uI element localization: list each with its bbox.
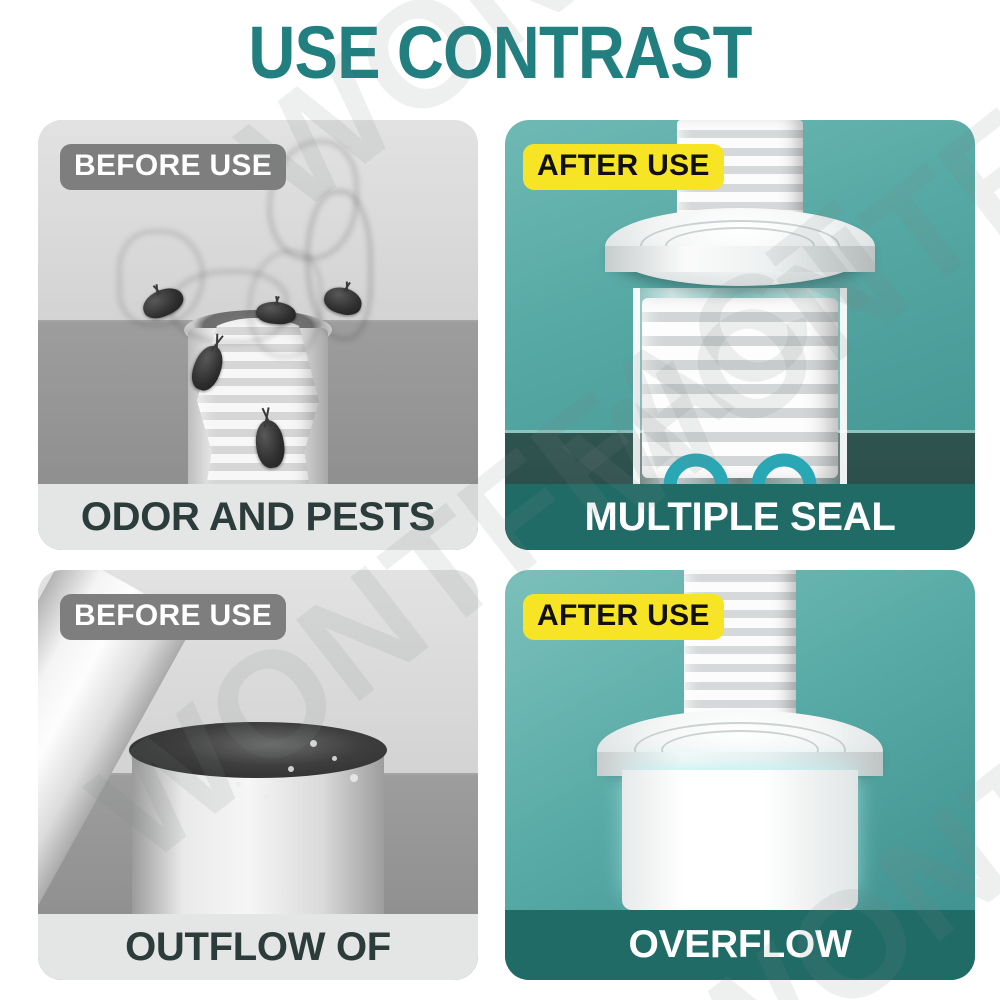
sewage-water	[129, 722, 387, 778]
panel-before-outflow-sewage[interactable]: BEFORE USE OUTFLOW OF SEWAGE	[38, 570, 478, 980]
bubble-icon	[288, 766, 294, 772]
bubble-icon	[350, 774, 358, 782]
infographic-page: USE CONTRAST BEFORE USE ODO	[0, 0, 1000, 1000]
cap-skirt	[605, 246, 875, 272]
badge-after-use: AFTER USE	[523, 594, 724, 640]
caption-odor-and-pests: ODOR AND PESTS	[38, 484, 478, 550]
panel-after-overflow-prevention[interactable]: AFTER USE OVERFLOW PREVENTION	[505, 570, 975, 980]
bubble-icon	[236, 782, 241, 787]
corrugated-hose	[684, 570, 796, 722]
badge-before-use: BEFORE USE	[60, 594, 286, 640]
panel-before-odor-pests[interactable]: BEFORE USE ODOR AND PESTS	[38, 120, 478, 550]
panel-after-multiple-seal[interactable]: AFTER USE MULTIPLE SEAL	[505, 120, 975, 550]
badge-before-use: BEFORE USE	[60, 144, 286, 190]
badge-after-use: AFTER USE	[523, 144, 724, 190]
bubble-icon	[310, 740, 317, 747]
bubble-icon	[332, 756, 337, 761]
caption-overflow-prevention: OVERFLOW PREVENTION	[505, 910, 975, 980]
caption-multiple-seal: MULTIPLE SEAL	[505, 484, 975, 550]
caption-outflow-of-sewage: OUTFLOW OF SEWAGE	[38, 914, 478, 980]
sealed-pipe-body	[622, 770, 858, 910]
page-title: USE CONTRAST	[60, 14, 940, 92]
bubble-icon	[264, 794, 270, 800]
